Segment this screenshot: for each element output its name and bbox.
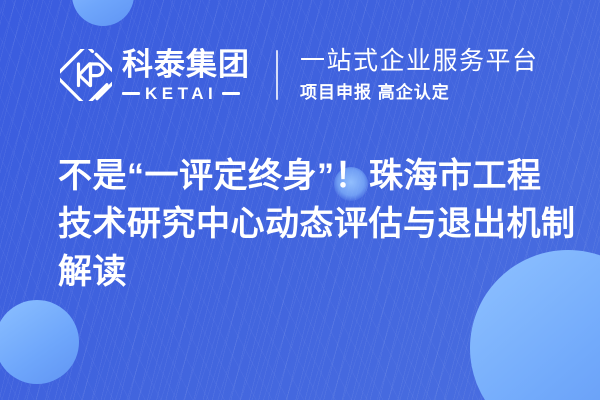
wordmark-dash-left xyxy=(122,92,140,95)
brand-logo[interactable]: 科泰集团 KETAI xyxy=(60,38,250,112)
tagline-sub: 项目申报 高企认定 xyxy=(300,83,539,103)
page-title-line-2: 技术研究中心动态评估与退出机制 xyxy=(58,200,568,248)
page-title: 不是“一评定终身”！珠海市工程 技术研究中心动态评估与退出机制 解读 xyxy=(58,152,568,296)
brand-name-cn: 科泰集团 xyxy=(122,48,250,81)
header-divider xyxy=(276,50,278,100)
promo-banner: 科泰集团 KETAI 一站式企业服务平台 项目申报 高企认定 不是“一评定终身”… xyxy=(0,0,600,400)
ketai-diamond-monogram-icon xyxy=(60,49,112,101)
page-title-line-1: 不是“一评定终身”！珠海市工程 xyxy=(58,152,568,200)
wordmark-dash-right xyxy=(222,92,240,95)
tagline-main: 一站式企业服务平台 xyxy=(300,47,539,77)
brand-wordmark: 科泰集团 KETAI xyxy=(122,48,250,101)
page-title-line-3: 解读 xyxy=(58,248,568,296)
tagline-block: 一站式企业服务平台 项目申报 高企认定 xyxy=(300,47,539,103)
banner-header: 科泰集团 KETAI 一站式企业服务平台 项目申报 高企认定 xyxy=(60,38,539,112)
brand-name-en: KETAI xyxy=(145,85,217,102)
brand-name-en-row: KETAI xyxy=(122,85,250,102)
